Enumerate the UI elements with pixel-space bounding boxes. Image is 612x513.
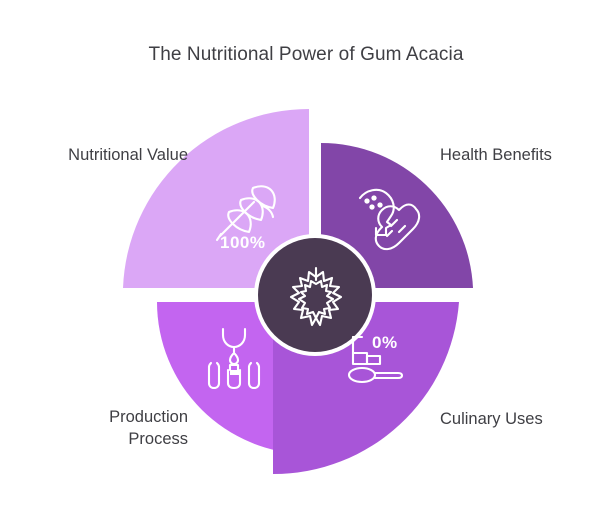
page-title: The Nutritional Power of Gum Acacia xyxy=(0,44,612,66)
segment-label-health-benefits: Health Benefits xyxy=(440,144,608,166)
infographic-root: The Nutritional Power of Gum Acacia Nutr… xyxy=(0,0,612,513)
segment-label-nutritional-value: Nutritional Value xyxy=(20,144,188,166)
segment-culinary-uses[interactable] xyxy=(273,302,459,474)
segment-label-production-process: Production Process xyxy=(20,406,188,451)
segment-nutritional-value[interactable] xyxy=(123,109,309,288)
segment-label-culinary-uses: Culinary Uses xyxy=(440,408,608,430)
